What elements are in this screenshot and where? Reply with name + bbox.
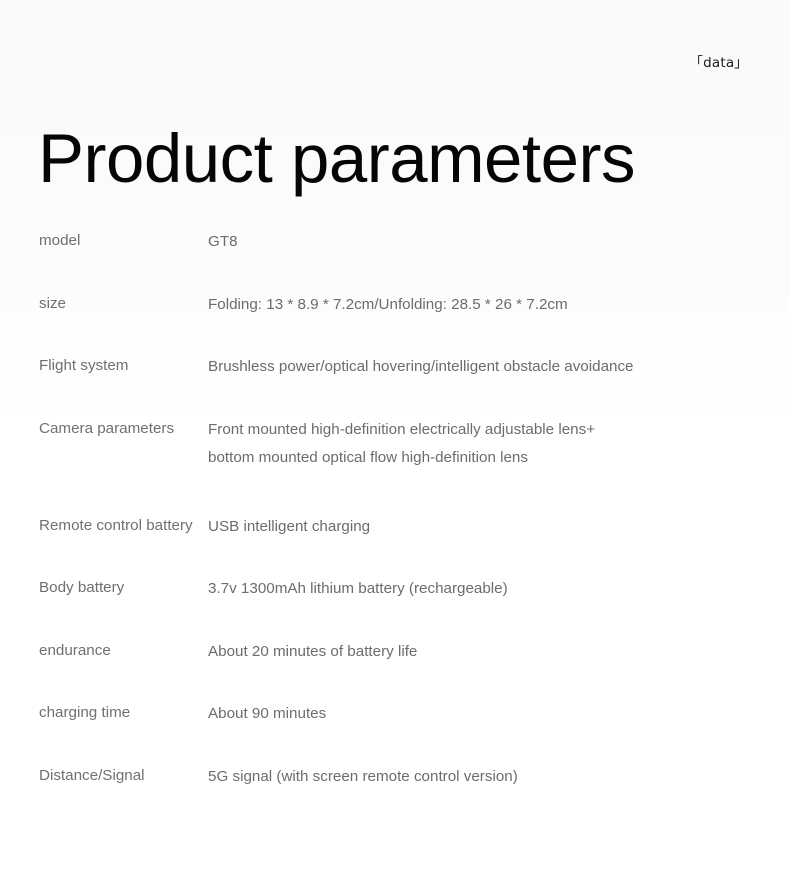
spec-label: model — [0, 228, 208, 253]
spec-value-line: GT8 — [208, 228, 760, 257]
spec-value: GT8 — [208, 228, 790, 257]
spec-row: Body battery3.7v 1300mAh lithium battery… — [0, 575, 790, 638]
spec-row: charging timeAbout 90 minutes — [0, 700, 790, 763]
spec-row: Remote control batteryUSB intelligent ch… — [0, 513, 790, 576]
spec-value: Folding: 13 * 8.9 * 7.2cm/Unfolding: 28.… — [208, 291, 790, 320]
spec-value-line: About 20 minutes of battery life — [208, 638, 760, 667]
specification-table: modelGT8sizeFolding: 13 * 8.9 * 7.2cm/Un… — [0, 228, 790, 825]
spec-label: Flight system — [0, 353, 208, 378]
spec-value-line: 3.7v 1300mAh lithium battery (rechargeab… — [208, 575, 760, 604]
spec-label: Body battery — [0, 575, 208, 600]
spec-value-line: Front mounted high-definition electrical… — [208, 416, 760, 445]
spec-label: Remote control battery — [0, 513, 208, 538]
data-corner-tag: 「data」 — [689, 57, 748, 71]
spec-row: enduranceAbout 20 minutes of battery lif… — [0, 638, 790, 701]
spec-value: Brushless power/optical hovering/intelli… — [208, 353, 790, 382]
spec-value-line: 5G signal (with screen remote control ve… — [208, 763, 760, 792]
spec-value: 5G signal (with screen remote control ve… — [208, 763, 790, 792]
spec-row: sizeFolding: 13 * 8.9 * 7.2cm/Unfolding:… — [0, 291, 790, 354]
spec-row: Camera parametersFront mounted high-defi… — [0, 416, 790, 513]
spec-row: modelGT8 — [0, 228, 790, 291]
spec-value: 3.7v 1300mAh lithium battery (rechargeab… — [208, 575, 790, 604]
spec-label: endurance — [0, 638, 208, 663]
spec-label: size — [0, 291, 208, 316]
spec-value: About 20 minutes of battery life — [208, 638, 790, 667]
spec-label: Distance/Signal — [0, 763, 208, 788]
spec-value: USB intelligent charging — [208, 513, 790, 542]
spec-value-line: bottom mounted optical flow high-definit… — [208, 444, 760, 473]
spec-value-line: Brushless power/optical hovering/intelli… — [208, 353, 760, 382]
product-parameters-page: 「data」 Product parameters modelGT8sizeFo… — [0, 0, 790, 881]
spec-value: About 90 minutes — [208, 700, 790, 729]
page-title: Product parameters — [38, 124, 635, 193]
spec-label: charging time — [0, 700, 208, 725]
spec-value-line: USB intelligent charging — [208, 513, 760, 542]
spec-value: Front mounted high-definition electrical… — [208, 416, 790, 473]
spec-value-line: Folding: 13 * 8.9 * 7.2cm/Unfolding: 28.… — [208, 291, 760, 320]
spec-row: Distance/Signal5G signal (with screen re… — [0, 763, 790, 826]
spec-label: Camera parameters — [0, 416, 208, 441]
spec-row: Flight systemBrushless power/optical hov… — [0, 353, 790, 416]
spec-value-line: About 90 minutes — [208, 700, 760, 729]
